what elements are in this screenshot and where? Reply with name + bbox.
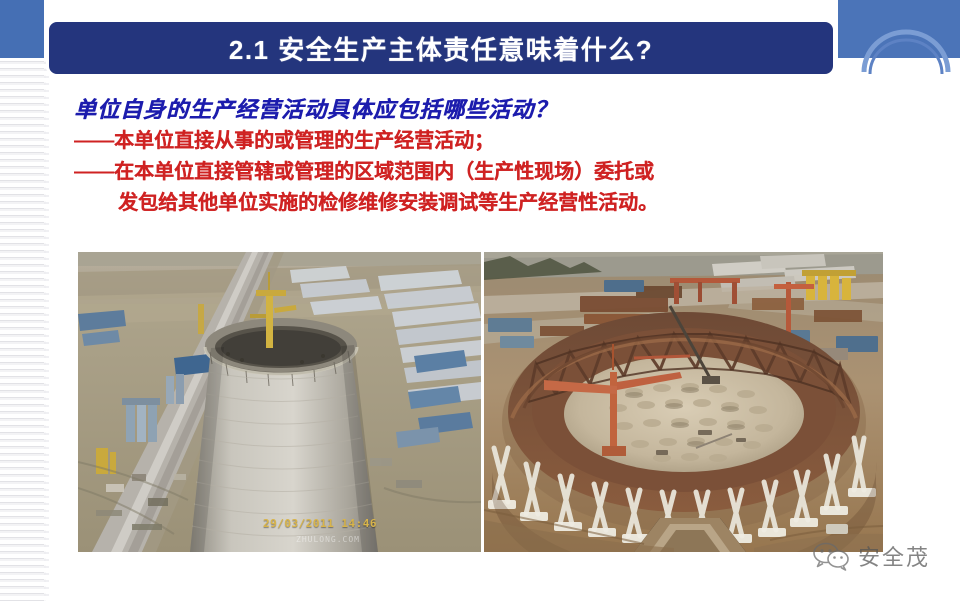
left-stripe-decoration xyxy=(0,57,46,601)
page-title: 2.1 安全生产主体责任意味着什么? xyxy=(229,30,653,67)
photo-timestamp: 29/03/2011 14:46 xyxy=(263,517,377,530)
bullet-line-3: 发包给其他单位实施的检修维修安装调试等生产经营性活动。 xyxy=(74,188,864,219)
slide-body-text: 单位自身的生产经营活动具体应包括哪些活动？ ——本单位直接从事的或管理的生产经营… xyxy=(74,96,864,219)
bullet-line-2: ——在本单位直接管辖或管理的区域范围内（生产性现场）委托或 xyxy=(74,157,864,188)
slide-canvas: 2.1 安全生产主体责任意味着什么? 单位自身的生产经营活动具体应包括哪些活动？… xyxy=(0,0,960,601)
photo-tower-foundation-art xyxy=(484,252,883,552)
wechat-watermark: 安全茂 xyxy=(812,540,930,572)
photo-cooling-tower-art xyxy=(78,252,481,552)
left-stripe-decoration-secondary xyxy=(44,57,49,601)
top-left-color-block xyxy=(0,0,44,58)
slide-title-bar: 2.1 安全生产主体责任意味着什么? xyxy=(46,19,836,77)
photo-tower-foundation xyxy=(484,252,883,552)
wechat-icon xyxy=(812,541,852,571)
photo-source-mark: ZHULONG.COM xyxy=(296,535,360,544)
photo-cooling-tower: 29/03/2011 14:46 ZHULONG.COM xyxy=(78,252,481,552)
arc-decoration-icon xyxy=(860,2,952,74)
bullet-line-1: ——本单位直接从事的或管理的生产经营活动； xyxy=(74,126,864,157)
question-heading: 单位自身的生产经营活动具体应包括哪些活动？ xyxy=(74,96,864,126)
watermark-label: 安全茂 xyxy=(858,540,930,572)
